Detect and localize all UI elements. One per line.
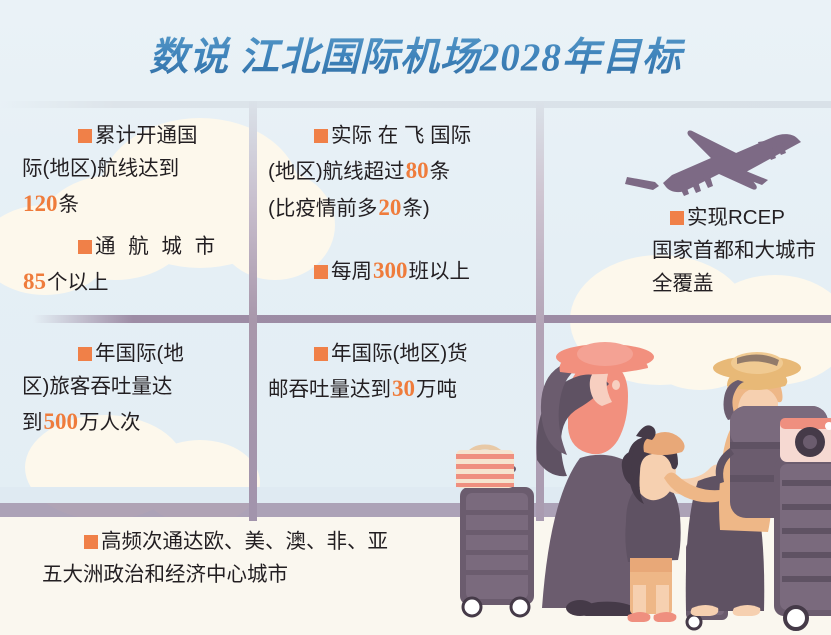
- stat-text: 通 航 城 市: [95, 235, 219, 258]
- bullet-icon: [78, 347, 92, 361]
- stat-unit: 万人次: [79, 411, 141, 434]
- grid-line-horizontal-top: [0, 101, 831, 108]
- camera: [780, 418, 831, 462]
- grid-line-vertical-left: [249, 101, 257, 521]
- stat-text: (比疫情前多: [268, 197, 377, 220]
- stat-text: 实际 在 飞 国际: [331, 124, 471, 147]
- grid-line-horizontal-middle: [0, 315, 831, 323]
- stat-cell-passenger-throughput: 年国际(地 区)旅客吞吐量达 到500万人次: [22, 337, 244, 441]
- stat-number: 85: [22, 269, 47, 294]
- bullet-icon: [314, 129, 328, 143]
- stat-cell-routes-total: 累计开通国 际(地区)航线达到 120条: [22, 119, 244, 223]
- stat-text: 到: [22, 411, 43, 434]
- stat-unit: 条): [402, 197, 429, 220]
- stat-unit: 万吨: [416, 378, 457, 401]
- stat-number: 500: [43, 409, 80, 434]
- stat-text: 实现RCEP: [687, 206, 785, 229]
- suitcase-right: [774, 440, 831, 629]
- stat-text: 五大洲政治和经济中心城市: [42, 563, 288, 586]
- stat-text: (地区)航线超过: [268, 160, 405, 183]
- handbag: [456, 447, 514, 488]
- stat-cell-weekly-flights: 每周300班以上: [268, 252, 530, 289]
- stat-text: 年国际(地区)货: [331, 342, 468, 365]
- stat-number: 30: [391, 376, 416, 401]
- stat-text: 邮吞吐量达到: [268, 378, 391, 401]
- stat-unit: 条: [430, 160, 451, 183]
- bullet-icon: [78, 129, 92, 143]
- stat-text: 高频次通达欧、美、澳、非、亚: [101, 530, 388, 553]
- bullet-icon: [670, 211, 684, 225]
- stat-text: 年国际(地: [95, 342, 184, 365]
- bullet-icon: [314, 347, 328, 361]
- stat-number: 20: [377, 195, 402, 220]
- infographic-canvas: 数说 江北国际机场2028年目标: [0, 0, 831, 635]
- stat-unit: 条: [59, 193, 80, 216]
- stat-number: 120: [22, 191, 59, 216]
- stat-text: 累计开通国: [95, 124, 198, 147]
- stat-cell-continent-coverage: 高频次通达欧、美、澳、非、亚 五大洲政治和经济中心城市: [42, 525, 472, 591]
- stat-text: 每周: [331, 260, 372, 283]
- bullet-icon: [314, 265, 328, 279]
- stat-text: 际(地区)航线达到: [22, 157, 179, 180]
- page-title: 数说 江北国际机场2028年目标: [0, 26, 831, 82]
- stat-cell-active-routes: 实际 在 飞 国际 (地区)航线超过80条 (比疫情前多20条): [268, 119, 530, 227]
- stat-text: 全覆盖: [652, 272, 714, 295]
- stat-number: 300: [372, 258, 409, 283]
- stat-unit: 班以上: [409, 260, 471, 283]
- stat-text: 区)旅客吞吐量达: [22, 375, 172, 398]
- stat-cell-connected-cities: 通 航 城 市 85个以上: [22, 230, 244, 300]
- stat-cell-cargo-throughput: 年国际(地区)货 邮吞吐量达到30万吨: [268, 337, 530, 407]
- stat-text: 国家首都和大城市: [652, 239, 816, 262]
- bullet-icon: [78, 240, 92, 254]
- bullet-icon: [84, 535, 98, 549]
- stat-number: 80: [405, 158, 430, 183]
- stat-cell-rcep-coverage: 实现RCEP 国家首都和大城市 全覆盖: [652, 201, 831, 301]
- stat-unit: 个以上: [47, 271, 109, 294]
